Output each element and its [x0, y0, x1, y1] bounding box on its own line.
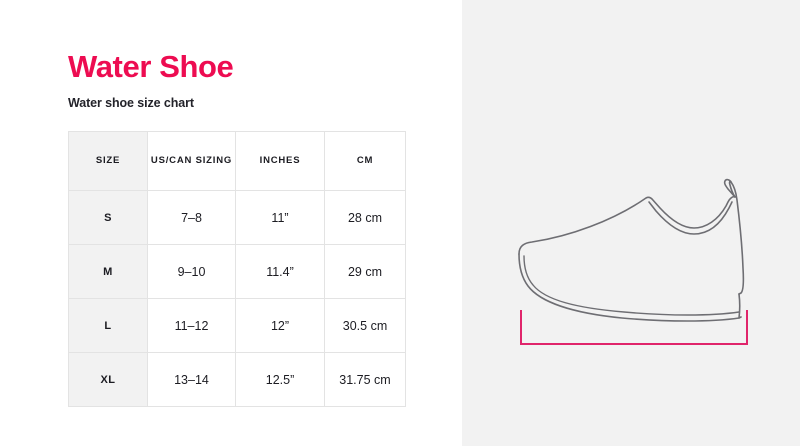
cell-uscan: 9–10 — [148, 245, 236, 299]
table-row: XL 13–14 12.5” 31.75 cm — [69, 353, 406, 407]
page-title: Water Shoe — [68, 50, 462, 84]
shoe-midsole-line — [524, 256, 739, 315]
illustration-panel — [462, 0, 800, 446]
table-header-row: SIZE US/CAN SIZING INCHES CM — [69, 132, 406, 191]
cell-cm: 30.5 cm — [325, 299, 406, 353]
size-chart-page: Water Shoe Water shoe size chart SIZE US… — [0, 0, 800, 446]
cell-size: L — [69, 299, 148, 353]
cell-uscan: 11–12 — [148, 299, 236, 353]
table-row: L 11–12 12” 30.5 cm — [69, 299, 406, 353]
table-body: S 7–8 11” 28 cm M 9–10 11.4” 29 cm L 11–… — [69, 191, 406, 407]
shoe-collar-trim — [649, 202, 732, 234]
water-shoe-illustration — [462, 150, 800, 350]
shoe-sole-outline — [519, 254, 741, 321]
cell-inches: 12” — [236, 299, 325, 353]
cell-cm: 28 cm — [325, 191, 406, 245]
cell-size: M — [69, 245, 148, 299]
cell-size: XL — [69, 353, 148, 407]
cell-uscan: 7–8 — [148, 191, 236, 245]
cell-cm: 31.75 cm — [325, 353, 406, 407]
column-header-size: SIZE — [69, 132, 148, 191]
table-row: S 7–8 11” 28 cm — [69, 191, 406, 245]
cell-uscan: 13–14 — [148, 353, 236, 407]
shoe-upper-outline — [519, 180, 743, 294]
table-header: SIZE US/CAN SIZING INCHES CM — [69, 132, 406, 191]
cell-cm: 29 cm — [325, 245, 406, 299]
cell-size: S — [69, 191, 148, 245]
column-header-cm: CM — [325, 132, 406, 191]
content-panel: Water Shoe Water shoe size chart SIZE US… — [0, 0, 462, 446]
column-header-uscan: US/CAN SIZING — [148, 132, 236, 191]
size-chart-table: SIZE US/CAN SIZING INCHES CM S 7–8 11” 2… — [68, 131, 406, 407]
cell-inches: 11.4” — [236, 245, 325, 299]
column-header-inches: INCHES — [236, 132, 325, 191]
shoe-heel-back-edge — [739, 294, 740, 318]
cell-inches: 12.5” — [236, 353, 325, 407]
table-row: M 9–10 11.4” 29 cm — [69, 245, 406, 299]
cell-inches: 11” — [236, 191, 325, 245]
length-measurement-bracket — [521, 311, 747, 344]
page-subtitle: Water shoe size chart — [68, 84, 462, 110]
